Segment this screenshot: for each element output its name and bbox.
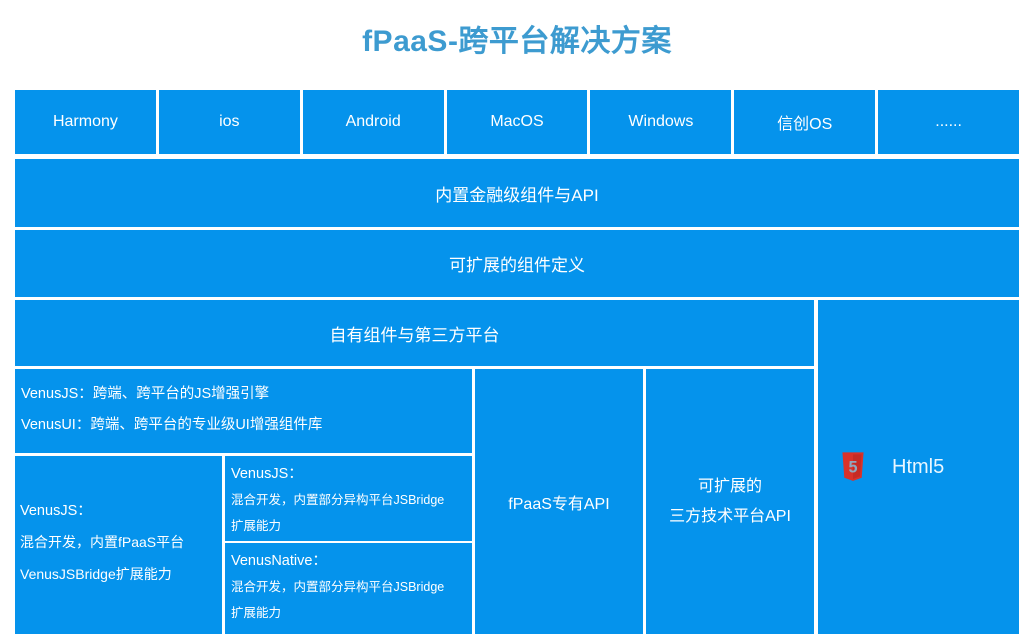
venusnative-hetero-title: VenusNative： [231, 549, 466, 574]
venusjs-hybrid-title: VenusJS： [20, 496, 217, 526]
venusjs-hetero-title: VenusJS： [231, 462, 466, 487]
os-cell-more[interactable]: ...... [878, 90, 1019, 154]
column-label-line1: 可扩展的 [698, 472, 762, 502]
os-cell-harmony[interactable]: Harmony [15, 90, 156, 154]
venusjs-hetero-line2: 扩展能力 [231, 513, 466, 539]
venusjs-summary-line: VenusJS：跨端、跨平台的JS增强引擎 [21, 379, 466, 410]
venusjs-hetero-line1: 混合开发，内置部分异构平台JSBridge [231, 487, 466, 513]
band-builtin-financial-api[interactable]: 内置金融级组件与API [15, 159, 1019, 227]
column-fpaas-proprietary-api[interactable]: fPaaS专有API [475, 369, 643, 634]
venusnative-hetero-line1: 混合开发，内置部分异构平台JSBridge [231, 574, 466, 600]
band-label: 内置金融级组件与API [435, 181, 598, 206]
os-cell-label: ...... [935, 113, 962, 131]
venusjs-heterogeneous-box[interactable]: VenusJS： 混合开发，内置部分异构平台JSBridge 扩展能力 [225, 456, 472, 541]
os-cell-label: MacOS [490, 113, 543, 131]
os-cell-xinchuang-os[interactable]: 信创OS [734, 90, 875, 154]
venusjs-fpaas-hybrid-box[interactable]: VenusJS： 混合开发，内置fPaaS平台 VenusJSBridge扩展能… [15, 456, 222, 634]
page-title: fPaaS-跨平台解决方案 [0, 16, 1034, 60]
column-label: fPaaS专有API [508, 490, 609, 514]
os-cell-label: 信创OS [777, 110, 832, 134]
band-label: 可扩展的组件定义 [449, 251, 585, 276]
os-cell-macos[interactable]: MacOS [447, 90, 588, 154]
os-cell-android[interactable]: Android [303, 90, 444, 154]
column-third-party-tech-platform-api[interactable]: 可扩展的 三方技术平台API [646, 369, 814, 634]
venusjs-hybrid-line1: 混合开发，内置fPaaS平台 [20, 526, 217, 558]
venusnative-heterogeneous-box[interactable]: VenusNative： 混合开发，内置部分异构平台JSBridge 扩展能力 [225, 543, 472, 634]
os-cell-ios[interactable]: ios [159, 90, 300, 154]
os-cell-label: Windows [628, 113, 693, 131]
band-own-and-third-party-platform[interactable]: 自有组件与第三方平台 [15, 300, 814, 366]
band-label: 自有组件与第三方平台 [330, 321, 500, 346]
venusui-summary-line: VenusUI：跨端、跨平台的专业级UI增强组件库 [21, 410, 466, 441]
column-label-line2: 三方技术平台API [669, 502, 791, 532]
os-platform-row: Harmony ios Android MacOS Windows 信创OS .… [15, 90, 1019, 154]
column-html5[interactable]: 5 Html5 [818, 300, 1019, 634]
venusjs-hybrid-line2: VenusJSBridge扩展能力 [20, 558, 217, 590]
venusnative-hetero-line2: 扩展能力 [231, 600, 466, 626]
html5-label: Html5 [892, 456, 944, 479]
svg-text:5: 5 [848, 459, 857, 477]
venus-summary-box[interactable]: VenusJS：跨端、跨平台的JS增强引擎 VenusUI：跨端、跨平台的专业级… [15, 369, 472, 453]
os-cell-label: ios [219, 113, 239, 131]
os-cell-label: Harmony [53, 113, 118, 131]
diagram-canvas: fPaaS-跨平台解决方案 Harmony ios Android MacOS … [0, 0, 1034, 634]
html5-icon: 5 [840, 452, 866, 482]
os-cell-windows[interactable]: Windows [590, 90, 731, 154]
band-extensible-component-definition[interactable]: 可扩展的组件定义 [15, 230, 1019, 297]
os-cell-label: Android [346, 113, 401, 131]
